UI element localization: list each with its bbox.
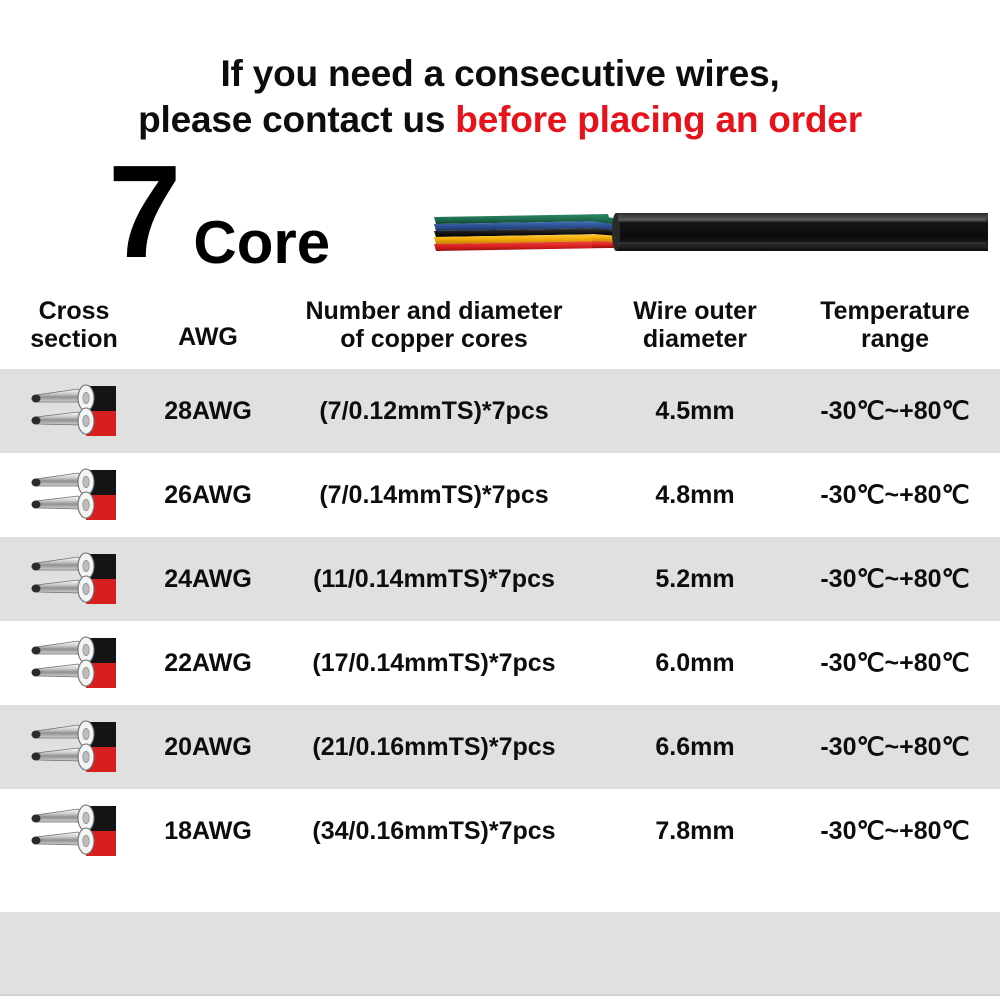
cell-cross-section [0, 789, 148, 873]
footer-band [0, 912, 1000, 996]
cell-wire-outer-diameter: 6.6mm [600, 705, 790, 789]
cell-temperature-range: -30℃~+80℃ [790, 369, 1000, 453]
cell-copper-cores: (7/0.14mmTS)*7pcs [268, 453, 600, 537]
header-copper-cores-line1: Number and diameter [270, 297, 598, 325]
cell-copper-cores: (17/0.14mmTS)*7pcs [268, 621, 600, 705]
cell-cross-section [0, 621, 148, 705]
cell-temperature-range: -30℃~+80℃ [790, 789, 1000, 873]
cell-cross-section [0, 453, 148, 537]
cell-temperature-range: -30℃~+80℃ [790, 621, 1000, 705]
headline-line-2-red: before placing an order [455, 99, 862, 140]
cell-temperature-range: -30℃~+80℃ [790, 705, 1000, 789]
header-cross-section-line1: Cross [2, 297, 146, 325]
header-copper-cores: Number and diameter of copper cores [268, 291, 600, 369]
cell-copper-cores: (7/0.12mmTS)*7pcs [268, 369, 600, 453]
cell-wire-outer-diameter: 7.8mm [600, 789, 790, 873]
cell-cross-section [0, 705, 148, 789]
header-cross-section: Cross section [0, 291, 148, 369]
header-temperature-range: Temperature range [790, 291, 1000, 369]
cell-cross-section [0, 537, 148, 621]
cable-cross-section-icon [28, 467, 120, 523]
core-label: Core [193, 213, 330, 273]
headline-block: If you need a consecutive wires, please … [0, 0, 1000, 141]
header-awg: AWG [148, 291, 268, 369]
headline-line-2-black: please contact us [138, 99, 455, 140]
cell-cross-section [0, 369, 148, 453]
header-wire-outer-line1: Wire outer [602, 297, 788, 325]
cell-copper-cores: (11/0.14mmTS)*7pcs [268, 537, 600, 621]
header-wire-outer-line2: diameter [602, 325, 788, 353]
cell-awg: 26AWG [148, 453, 268, 537]
headline-line-1: If you need a consecutive wires, [0, 52, 1000, 96]
cell-temperature-range: -30℃~+80℃ [790, 453, 1000, 537]
header-wire-outer-diameter: Wire outer diameter [600, 291, 790, 369]
cell-wire-outer-diameter: 5.2mm [600, 537, 790, 621]
header-copper-cores-line2: of copper cores [270, 325, 598, 353]
core-title: 7 Core [108, 155, 330, 269]
cell-wire-outer-diameter: 4.5mm [600, 369, 790, 453]
cell-awg: 22AWG [148, 621, 268, 705]
cable-cross-section-icon [28, 803, 120, 859]
table-row: 26AWG (7/0.14mmTS)*7pcs 4.8mm -30℃~+80℃ [0, 453, 1000, 537]
header-cross-section-line2: section [2, 325, 146, 353]
cable-cross-section-icon [28, 551, 120, 607]
table-header-row: Cross section AWG Number and diameter of… [0, 291, 1000, 369]
cell-wire-outer-diameter: 6.0mm [600, 621, 790, 705]
cell-temperature-range: -30℃~+80℃ [790, 537, 1000, 621]
table-row: 20AWG (21/0.16mmTS)*7pcs 6.6mm -30℃~+80℃ [0, 705, 1000, 789]
core-count: 7 [108, 155, 177, 269]
cable-image [432, 205, 988, 259]
header-awg-label: AWG [150, 323, 266, 351]
header-temperature-line2: range [792, 325, 998, 353]
table-body: 28AWG (7/0.12mmTS)*7pcs 4.5mm -30℃~+80℃ [0, 369, 1000, 873]
cell-awg: 28AWG [148, 369, 268, 453]
cable-cross-section-icon [28, 383, 120, 439]
table-row: 28AWG (7/0.12mmTS)*7pcs 4.5mm -30℃~+80℃ [0, 369, 1000, 453]
table-row: 18AWG (34/0.16mmTS)*7pcs 7.8mm -30℃~+80℃ [0, 789, 1000, 873]
cable-cross-section-icon [28, 635, 120, 691]
cable-illustration [432, 205, 988, 259]
table-row: 22AWG (17/0.14mmTS)*7pcs 6.0mm -30℃~+80℃ [0, 621, 1000, 705]
cell-copper-cores: (21/0.16mmTS)*7pcs [268, 705, 600, 789]
headline-line-2: please contact us before placing an orde… [0, 98, 1000, 142]
cell-copper-cores: (34/0.16mmTS)*7pcs [268, 789, 600, 873]
specification-table: Cross section AWG Number and diameter of… [0, 291, 1000, 873]
cell-awg: 18AWG [148, 789, 268, 873]
cell-wire-outer-diameter: 4.8mm [600, 453, 790, 537]
header-temperature-line1: Temperature [792, 297, 998, 325]
core-banner: 7 Core [0, 157, 1000, 287]
cell-awg: 24AWG [148, 537, 268, 621]
cable-cross-section-icon [28, 719, 120, 775]
cell-awg: 20AWG [148, 705, 268, 789]
table-row: 24AWG (11/0.14mmTS)*7pcs 5.2mm -30℃~+80℃ [0, 537, 1000, 621]
